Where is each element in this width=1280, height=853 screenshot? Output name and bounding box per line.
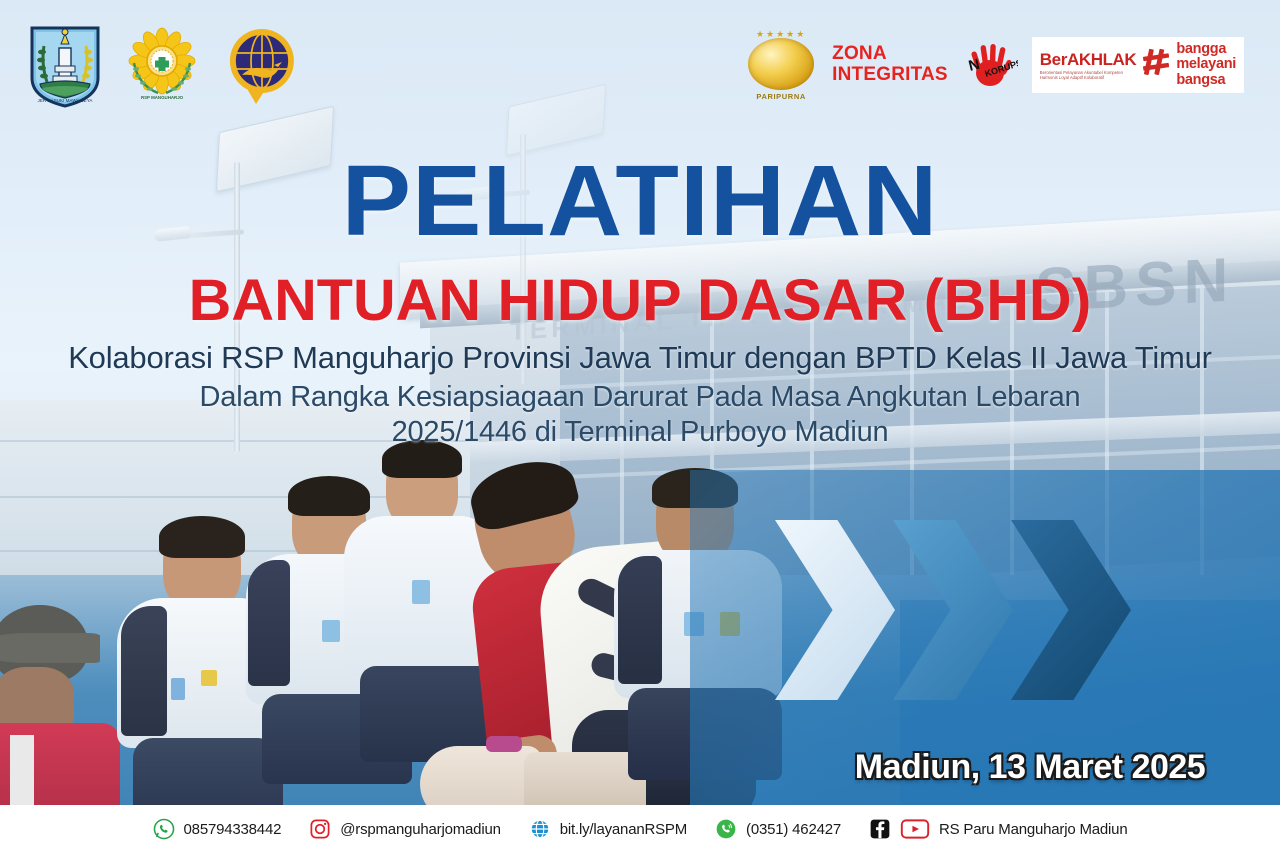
footer-item-whatsapp[interactable]: 085794338442 xyxy=(153,818,282,840)
page-title: PELATIHAN xyxy=(0,152,1280,250)
chevron-arrow-group xyxy=(775,520,1175,700)
chevron-arrow-1 xyxy=(775,520,895,700)
social-handle: RS Paru Manguharjo Madiun xyxy=(939,821,1127,838)
globe-icon xyxy=(529,818,551,840)
right-logo-group: ★★★★★ PARIPURNA ZONA INTEGRITAS N KO xyxy=(744,26,1244,104)
paripurna-medal-icon: ★★★★★ PARIPURNA xyxy=(744,26,818,104)
footer-item-website[interactable]: bit.ly/layananRSPM xyxy=(529,818,687,840)
berakhlak-logo: BerAKHLAK Berorientasi Pelayanan Akuntab… xyxy=(1032,37,1244,92)
berakhlak-tagline-3: bangsa xyxy=(1176,73,1236,88)
phone-number: (0351) 462427 xyxy=(746,821,841,838)
description-line-3: 2025/1446 di Terminal Purboyo Madiun xyxy=(0,416,1280,449)
chevron-arrow-2 xyxy=(893,520,1013,700)
description-line-1: Kolaborasi RSP Manguharjo Provinsi Jawa … xyxy=(0,340,1280,376)
footer-item-social[interactable]: RS Paru Manguharjo Madiun xyxy=(869,818,1127,840)
svg-text:JER BASUKI MAWA BEYA: JER BASUKI MAWA BEYA xyxy=(38,98,94,103)
east-java-province-emblem-icon: JER BASUKI MAWA BEYA xyxy=(28,22,102,108)
berakhlak-title: BerAKHLAK xyxy=(1040,50,1137,70)
zona-integritas-label: ZONA INTEGRITAS xyxy=(832,44,948,85)
contact-footer: 085794338442 @rspmanguharjomadiun xyxy=(0,805,1280,853)
bangga-melayani-hash-icon xyxy=(1143,47,1169,82)
medal-caption: PARIPURNA xyxy=(744,92,818,101)
left-logo-group: JER BASUKI MAWA BEYA xyxy=(28,22,302,108)
website-url: bit.ly/layananRSPM xyxy=(560,821,687,838)
anti-corruption-hand-icon: N KORUPSI xyxy=(962,37,1018,93)
youtube-icon xyxy=(900,818,930,840)
zona-line-1: ZONA xyxy=(832,44,948,65)
whatsapp-number: 085794338442 xyxy=(184,821,282,838)
footer-item-instagram[interactable]: @rspmanguharjomadiun xyxy=(309,818,500,840)
berakhlak-tagline-1: bangga xyxy=(1176,42,1236,57)
footer-item-phone[interactable]: (0351) 462427 xyxy=(715,818,841,840)
instagram-icon xyxy=(309,818,331,840)
facebook-icon xyxy=(869,818,891,840)
svg-text:N: N xyxy=(967,56,982,75)
svg-text:RSP MANGUHARJO: RSP MANGUHARJO xyxy=(141,95,184,100)
poster-canvas: SBSN TERMINAL TIPE A KOTA MADIUN xyxy=(0,0,1280,853)
ministry-of-transportation-emblem-icon xyxy=(222,25,302,105)
date-stamp: Madiun, 13 Maret 2025 xyxy=(820,748,1240,787)
whatsapp-icon xyxy=(153,818,175,840)
berakhlak-text-block: BerAKHLAK Berorientasi Pelayanan Akuntab… xyxy=(1040,50,1137,81)
phone-icon xyxy=(715,818,737,840)
description-line-2: Dalam Rangka Kesiapsiagaan Darurat Pada … xyxy=(0,381,1280,414)
berakhlak-tagline-2: melayani xyxy=(1176,57,1236,72)
berakhlak-subtitle: Berorientasi Pelayanan Akuntabel Kompete… xyxy=(1040,70,1132,81)
chevron-arrow-3 xyxy=(1011,520,1131,700)
rsp-manguharjo-emblem-icon: RSP MANGUHARJO xyxy=(124,27,200,103)
zona-line-2: INTEGRITAS xyxy=(832,65,948,86)
instagram-handle: @rspmanguharjomadiun xyxy=(340,821,500,838)
berakhlak-tagline: bangga melayani bangsa xyxy=(1176,42,1236,87)
medal-disc xyxy=(748,38,814,90)
page-subtitle: BANTUAN HIDUP DASAR (BHD) xyxy=(0,272,1280,330)
